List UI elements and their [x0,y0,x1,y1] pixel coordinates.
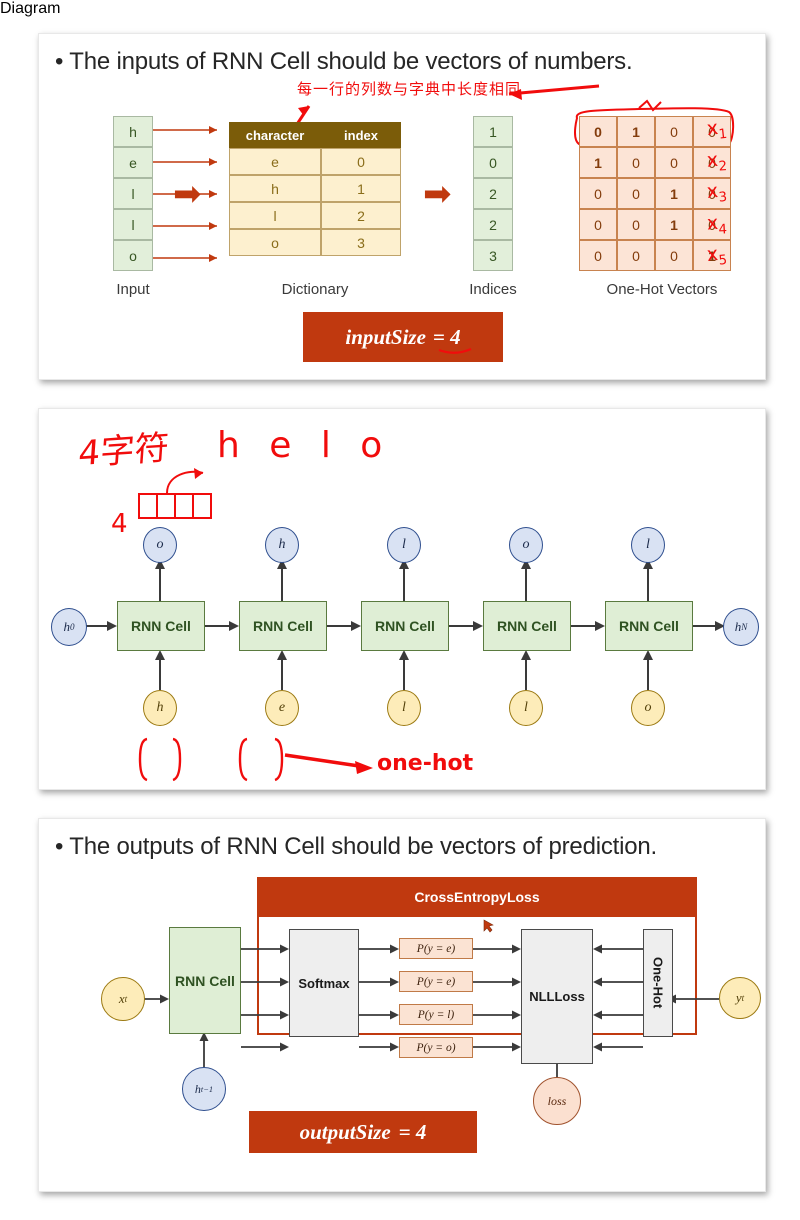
onehot-cell: 1 [655,178,693,209]
output-oval: o [143,527,177,563]
onehot-cell: 0 [617,178,655,209]
input-xt: xt [101,977,145,1021]
input-size-label: inputSize [345,325,426,350]
rnn-cell: RNN Cell [117,601,205,651]
hidden-state-hN: hN [723,608,759,646]
panel-rnn-unrolled: 4字符 h e l o 4 [38,408,766,790]
handwritten-x-label: x2 [706,148,727,175]
input-char: l [113,209,153,240]
index-value: 2 [473,178,513,209]
loss-node: loss [533,1077,581,1125]
dict-cell-index: 3 [321,229,401,256]
onehot-cell: 0 [655,116,693,147]
input-oval: o [631,690,665,726]
prob-box: P(y = e) [399,938,473,959]
index-value: 3 [473,240,513,271]
input-oval: e [265,690,299,726]
rnn-cell: RNN Cell [605,601,693,651]
annotation-one-hot: one-hot [377,751,473,776]
input-size-box: inputSize = 4 [303,312,503,362]
handwritten-four: 4 [111,509,128,539]
onehot-cell: 0 [655,147,693,178]
input-oval: l [509,690,543,726]
dict-cell-index: 0 [321,148,401,175]
flow-arrow-icon: ➡ [423,177,452,211]
onehot-cell: 0 [617,147,655,178]
output-size-box: outputSize = 4 [249,1111,477,1153]
onehot-cell: 0 [617,209,655,240]
prob-box: P(y = o) [399,1037,473,1058]
index-value: 1 [473,116,513,147]
dict-cell-index: 2 [321,202,401,229]
output-size-value: = 4 [399,1120,427,1145]
index-value: 2 [473,209,513,240]
output-size-label: outputSize [300,1120,391,1145]
output-oval: o [509,527,543,563]
handwritten-x-label: x3 [706,179,728,206]
onehot-cell: 0 [655,240,693,271]
input-oval: l [387,690,421,726]
prob-box: P(y = e) [399,971,473,992]
cross-entropy-title: CrossEntropyLoss [257,877,697,917]
dict-cell-index: 1 [321,175,401,202]
dict-cell-char: l [229,202,321,229]
output-oval: h [265,527,299,563]
onehot-cell: 0 [617,240,655,271]
rnn-cell: RNN Cell [483,601,571,651]
handwritten-x-label: x5 [706,242,728,269]
dict-cell-char: h [229,175,321,202]
onehot-cell: 1 [655,209,693,240]
onehot-cell: 0 [579,178,617,209]
input-char: l [113,178,153,209]
handwritten-helo: h e l o [217,425,391,466]
dict-cell-char: e [229,148,321,175]
input-char: h [113,116,153,147]
input-size-value: = 4 [433,325,461,350]
caption-input: Input [93,281,173,298]
input-oval: h [143,690,177,726]
panel-inputs: • The inputs of RNN Cell should be vecto… [38,33,766,380]
handwritten-4chars: 4字符 [77,420,171,475]
caption-onehot: One-Hot Vectors [587,281,737,298]
softmax-box: Softmax [289,929,359,1037]
output-oval: l [631,527,665,563]
caption-dictionary: Dictionary [265,281,365,298]
panel3-bullet: • The outputs of RNN Cell should be vect… [55,833,657,861]
prob-box: P(y = l) [399,1004,473,1025]
rnn-cell: RNN Cell [169,927,241,1034]
caption-indices: Indices [453,281,533,298]
onehot-cell: 0 [579,240,617,271]
target-yt: yt [719,977,761,1019]
handwritten-x-label: x4 [706,212,727,239]
rnn-cell: RNN Cell [361,601,449,651]
onehot-cell: 1 [617,116,655,147]
dict-header-cell: character [229,122,321,148]
rnn-cell: RNN Cell [239,601,327,651]
onehot-cell: 0 [579,116,617,147]
hidden-state-prev: ht−1 [182,1067,226,1111]
handwritten-x-label: x1 [706,116,728,144]
dict-cell-char: o [229,229,321,256]
annotation-chinese: 每一行的列数与字典中长度相同 [297,78,521,99]
onehot-cell: 0 [579,209,617,240]
onehot-label: One-Hot [651,957,666,1008]
onehot-box: One-Hot [643,929,673,1037]
panel-outputs: • The outputs of RNN Cell should be vect… [38,818,766,1192]
input-char: e [113,147,153,178]
flow-arrow-icon: ➡ [173,177,202,211]
onehot-cell: 1 [579,147,617,178]
hidden-state-h0: h0 [51,608,87,646]
output-oval: l [387,527,421,563]
nllloss-box: NLLLoss [521,929,593,1064]
input-char: o [113,240,153,271]
dict-header-cell: index [321,122,401,148]
index-value: 0 [473,147,513,178]
panel1-bullet: • The inputs of RNN Cell should be vecto… [55,48,632,76]
